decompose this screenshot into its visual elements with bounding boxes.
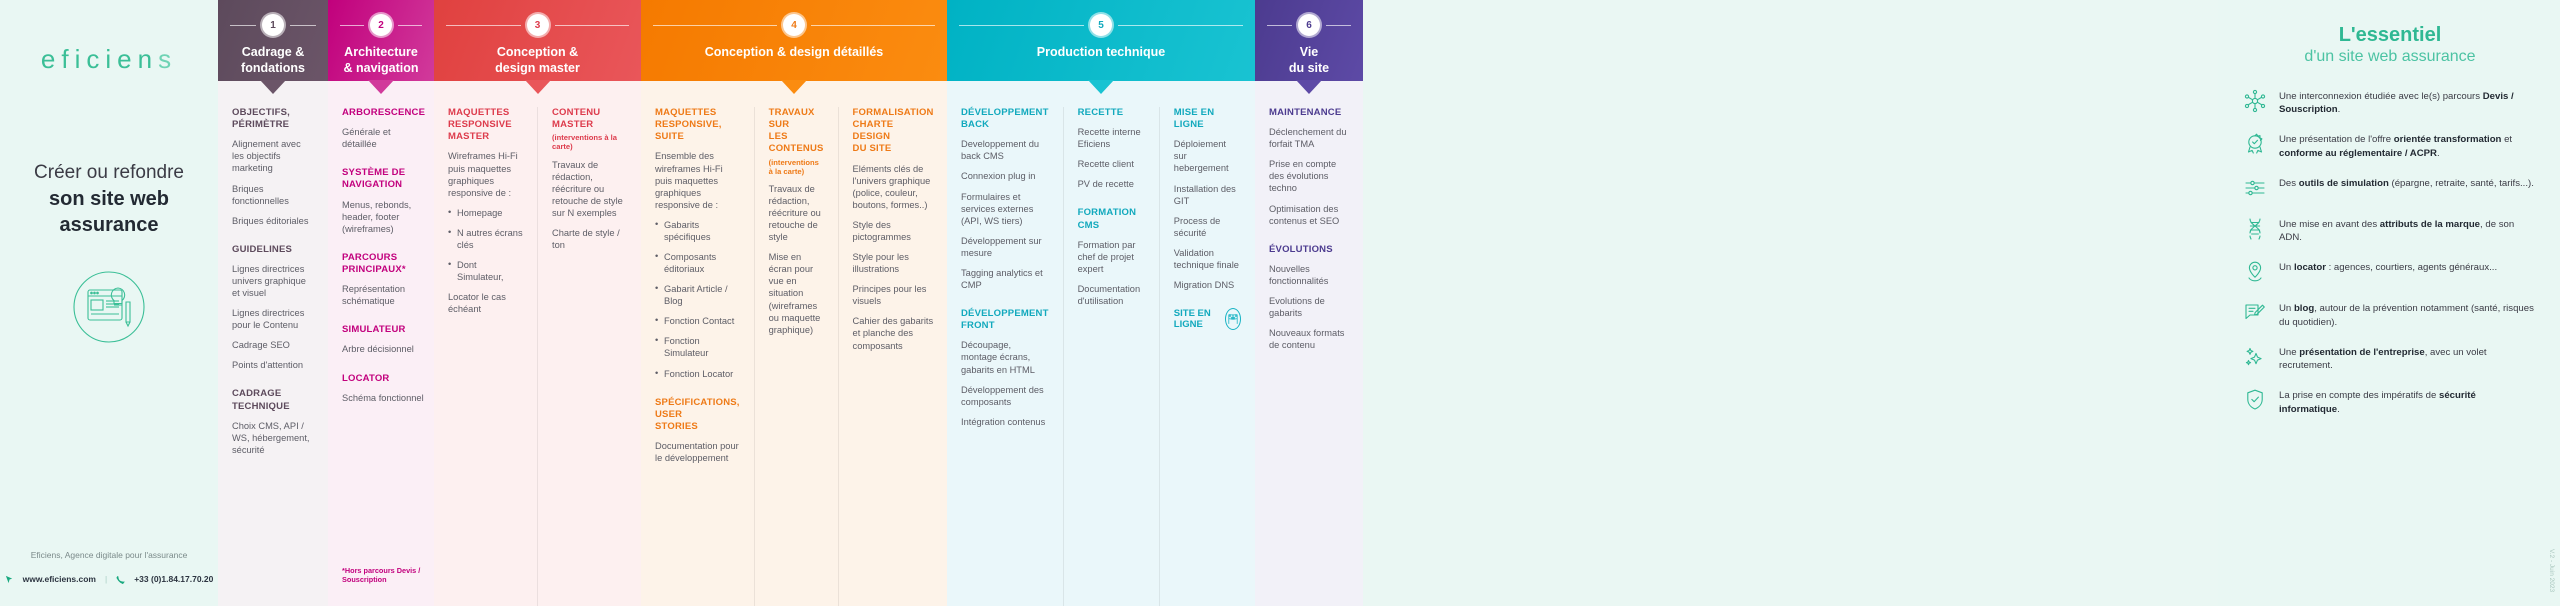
brand-panel: eficiens Créer ou refondre son site web … [0, 0, 218, 606]
content-group: TRAVAUX SURLES CONTENUS(interventions à … [769, 107, 824, 336]
content-group: RECETTERecette interne EficiensRecette c… [1078, 107, 1145, 190]
content-group: SIMULATEURArbre décisionnel [342, 324, 425, 355]
header-arrow-notch [781, 80, 807, 94]
list-item: Composants éditoriaux [655, 251, 740, 275]
phase-number-row: 2 [328, 14, 434, 36]
infographic-root: eficiens Créer ou refondre son site web … [0, 0, 2560, 606]
list-item: Choix CMS, API / WS, hébergement, sécuri… [232, 420, 314, 456]
divider-right [811, 25, 935, 26]
header-arrow-notch [368, 80, 394, 94]
list-item: Developpement du back CMS [961, 138, 1049, 162]
list-item: Briques éditoriales [232, 215, 314, 227]
blog-write-icon [2242, 300, 2268, 326]
phase-header-5: 5Production technique [947, 0, 1255, 81]
list-item: Wireframes Hi-Fi puis maquettes graphiqu… [448, 150, 523, 198]
list-item: Déploiement sur hebergement [1174, 138, 1241, 174]
list-item: Homepage [448, 207, 523, 219]
phase-number-badge: 3 [527, 14, 549, 36]
phase-3-column-2: CONTENU MASTER(interventions à la carte)… [537, 107, 641, 606]
list-item: Développement sur mesure [961, 235, 1049, 259]
content-group: DÉVELOPPEMENTBACKDeveloppement du back C… [961, 107, 1049, 291]
brand-contact: www.eficiens.com | +33 (0)1.84.17.70.20 [0, 574, 218, 584]
phase-body-6: MAINTENANCEDéclenchement du forfait TMAP… [1255, 81, 1363, 606]
divider-right [1326, 25, 1351, 26]
phase-header-1: 1Cadrage &fondations [218, 0, 328, 81]
map-pin-icon [2242, 259, 2268, 285]
list-item: Eléments clés de l'univers graphique (po… [853, 163, 934, 211]
phase-number-row: 3 [434, 14, 641, 36]
list-item: Points d'attention [232, 359, 314, 371]
list-item: Ensemble des wireframes Hi-Fi puis maque… [655, 150, 740, 210]
list-item: Cadrage SEO [232, 339, 314, 351]
content-group: PARCOURSPRINCIPAUX*Représentation schéma… [342, 252, 425, 307]
content-group: MISE EN LIGNEDéploiement sur hebergement… [1174, 107, 1241, 291]
list-item: Travaux de rédaction, réécriture ou reto… [552, 159, 627, 219]
group-title: SIMULATEUR [342, 324, 425, 336]
list-item: Nouveaux formats de contenu [1269, 327, 1349, 351]
page-title: Créer ou refondre son site web assurance [34, 161, 184, 238]
phase-title: Architecture& navigation [337, 45, 424, 76]
phase-3-column-1: MAQUETTESRESPONSIVE MASTERWireframes Hi-… [434, 107, 537, 606]
content-group: SPÉCIFICATIONS, USERSTORIESDocumentation… [655, 397, 740, 465]
divider-right [398, 25, 422, 26]
list-item: Découpage, montage écrans, gabarits en H… [961, 339, 1049, 375]
content-group: CONTENU MASTER(interventions à la carte)… [552, 107, 627, 251]
list-item: Lignes directrices pour le Contenu [232, 307, 314, 331]
phase-number-badge: 6 [1298, 14, 1320, 36]
group-title: SYSTÈME DENAVIGATION [342, 167, 425, 191]
list-item: Installation des GIT [1174, 183, 1241, 207]
phase-number-row: 1 [218, 14, 328, 36]
phase-title: Conception &design master [489, 45, 586, 76]
group-title: DÉVELOPPEMENTFRONT [961, 308, 1049, 332]
list-item: Briques fonctionnelles [232, 183, 314, 207]
list-item: N autres écrans clés [448, 227, 523, 251]
phase-body-5: DÉVELOPPEMENTBACKDeveloppement du back C… [947, 81, 1255, 606]
website-design-icon [66, 264, 152, 355]
divider-right [290, 25, 316, 26]
essential-item: La prise en compte des impératifs de séc… [2242, 387, 2538, 415]
list-item: Process de sécurité [1174, 215, 1241, 239]
group-subtitle: (interventions à la carte) [769, 158, 824, 176]
essential-item-text: Une présentation de l'entreprise, avec u… [2279, 344, 2538, 372]
eficiens-logo: eficiens [41, 44, 177, 75]
content-group: OBJECTIFS,PÉRIMÈTREAlignement avec les o… [232, 107, 314, 227]
phase-header-2: 2Architecture& navigation [328, 0, 434, 81]
site-online-badge: SITE EN LIGNE [1174, 308, 1241, 330]
phase-footnote: *Hors parcours Devis / Souscription [342, 566, 434, 584]
list-item: Intégration contenus [961, 416, 1049, 428]
phase-4-column-3: FORMALISATIONCHARTE DESIGNDU SITEElément… [838, 107, 948, 606]
essential-item-text: La prise en compte des impératifs de séc… [2279, 387, 2538, 415]
essential-item-text: Un blog, autour de la prévention notamme… [2279, 300, 2538, 328]
divider-left [340, 25, 364, 26]
list-item: Recette client [1078, 158, 1145, 170]
list-item: Principes pour les visuels [853, 283, 934, 307]
list-item: Documentation pour le développement [655, 440, 740, 464]
group-title: ARBORESCENCE [342, 107, 425, 119]
group-title: LOCATOR [342, 373, 425, 385]
phase-5-column-3: MISE EN LIGNEDéploiement sur hebergement… [1159, 107, 1255, 606]
phase-number-row: 4 [641, 14, 947, 36]
header-arrow-notch [1296, 80, 1322, 94]
content-group: LOCATORSchéma fonctionnel [342, 373, 425, 404]
divider-left [653, 25, 777, 26]
essential-heading: L'essentiel [2242, 24, 2538, 47]
list-item: Cahier des gabarits et planche des compo… [853, 315, 934, 351]
list-item: Représentation schématique [342, 283, 425, 307]
group-title: GUIDELINES [232, 244, 314, 256]
list-item: Documentation d'utilisation [1078, 283, 1145, 307]
group-title: CONTENU MASTER [552, 107, 627, 131]
content-group: ÉVOLUTIONSNouvelles fonctionnalitésEvolu… [1269, 244, 1349, 352]
phase-5-column-1: DÉVELOPPEMENTBACKDeveloppement du back C… [947, 107, 1063, 606]
phase-number-row: 6 [1255, 14, 1363, 36]
sparkles-icon [2242, 344, 2268, 370]
list-item: Style des pictogrammes [853, 219, 934, 243]
list-item: Mise en écran pour vue en situation (wir… [769, 251, 824, 336]
phase-6: 6Viedu siteMAINTENANCEDéclenchement du f… [1255, 0, 1363, 606]
header-arrow-notch [260, 80, 286, 94]
divider-left [446, 25, 521, 26]
phase-1: 1Cadrage &fondationsOBJECTIFS,PÉRIMÈTREA… [218, 0, 328, 606]
phase-title: Cadrage &fondations [235, 45, 311, 76]
sliders-icon [2242, 175, 2268, 201]
phase-header-3: 3Conception &design master [434, 0, 641, 81]
phase-4: 4Conception & design détaillésMAQUETTESR… [641, 0, 947, 606]
list-item: Connexion plug in [961, 170, 1049, 182]
phase-title: Production technique [1031, 45, 1171, 61]
badge-label: SITE EN LIGNE [1174, 308, 1217, 330]
list-item: Générale et détaillée [342, 126, 425, 150]
group-title: FORMATION CMS [1078, 207, 1145, 231]
phase-number-badge: 4 [783, 14, 805, 36]
group-title: MAQUETTESRESPONSIVE, SUITE [655, 107, 740, 143]
title-line-1: Créer ou refondre [34, 162, 184, 183]
phase-header-4: 4Conception & design détaillés [641, 0, 947, 81]
phase-number-badge: 5 [1090, 14, 1112, 36]
list-item: Optimisation des contenus et SEO [1269, 203, 1349, 227]
brand-footer-note: Eficiens, Agence digitale pour l'assuran… [0, 550, 218, 560]
list-item: Validation technique finale [1174, 247, 1241, 271]
group-title: MAQUETTESRESPONSIVE MASTER [448, 107, 523, 143]
content-group: MAQUETTESRESPONSIVE MASTERWireframes Hi-… [448, 107, 523, 315]
phase-title: Conception & design détaillés [699, 45, 890, 61]
group-subtitle: (interventions à la carte) [552, 133, 627, 151]
list-item: Développement des composants [961, 384, 1049, 408]
phase-2: 2Architecture& navigationARBORESCENCEGén… [328, 0, 434, 606]
shield-check-icon [2242, 387, 2268, 413]
content-group: MAQUETTESRESPONSIVE, SUITEEnsemble des w… [655, 107, 740, 380]
phase-body-2: ARBORESCENCEGénérale et détailléeSYSTÈME… [328, 81, 434, 606]
list-item: Tagging analytics et CMP [961, 267, 1049, 291]
essential-item: Des outils de simulation (épargne, retra… [2242, 175, 2538, 201]
phase-6-column-1: MAINTENANCEDéclenchement du forfait TMAP… [1255, 107, 1363, 606]
phase-number-row: 5 [947, 14, 1255, 36]
website-label[interactable]: www.eficiens.com [23, 574, 96, 584]
cursor-icon [5, 574, 14, 584]
contact-separator: | [105, 574, 107, 584]
divider-right [1118, 25, 1243, 26]
list-item: Lignes directrices univers graphique et … [232, 263, 314, 299]
content-group: SYSTÈME DENAVIGATIONMenus, rebonds, head… [342, 167, 425, 235]
group-title: MISE EN LIGNE [1174, 107, 1241, 131]
essential-item-text: Une présentation de l'offre orientée tra… [2279, 131, 2538, 159]
certified-badge-icon [2242, 131, 2268, 157]
phase-2-column-1: ARBORESCENCEGénérale et détailléeSYSTÈME… [328, 107, 439, 606]
content-group: CADRAGETECHNIQUEChoix CMS, API / WS, héb… [232, 388, 314, 456]
group-title: ÉVOLUTIONS [1269, 244, 1349, 256]
divider-left [959, 25, 1084, 26]
list-item: Formation par chef de projet expert [1078, 239, 1145, 275]
list-item: Formulaires et services externes (API, W… [961, 191, 1049, 227]
essential-item-text: Des outils de simulation (épargne, retra… [2279, 175, 2534, 190]
content-group: MAINTENANCEDéclenchement du forfait TMAP… [1269, 107, 1349, 227]
content-group: FORMALISATIONCHARTE DESIGNDU SITEElément… [853, 107, 934, 352]
content-group: DÉVELOPPEMENTFRONTDécoupage, montage écr… [961, 308, 1049, 428]
list-item: Fonction Contact [655, 315, 740, 327]
phases-container: 1Cadrage &fondationsOBJECTIFS,PÉRIMÈTREA… [218, 0, 2218, 606]
title-line-2: son site web [34, 186, 184, 212]
phase-1-column-1: OBJECTIFS,PÉRIMÈTREAlignement avec les o… [218, 107, 328, 606]
content-group: FORMATION CMSFormation par chef de proje… [1078, 207, 1145, 307]
phase-body-4: MAQUETTESRESPONSIVE, SUITEEnsemble des w… [641, 81, 947, 606]
phone-label[interactable]: +33 (0)1.84.17.70.20 [134, 574, 213, 584]
list-item: Gabarits spécifiques [655, 219, 740, 243]
list-item: Schéma fonctionnel [342, 392, 425, 404]
phase-4-column-1: MAQUETTESRESPONSIVE, SUITEEnsemble des w… [641, 107, 754, 606]
list-item: Evolutions de gabarits [1269, 295, 1349, 319]
logo-main: eficien [41, 44, 158, 74]
list-item: Arbre décisionnel [342, 343, 425, 355]
essential-subheading: d'un site web assurance [2242, 48, 2538, 66]
title-line-3: assurance [34, 212, 184, 238]
group-title: DÉVELOPPEMENTBACK [961, 107, 1049, 131]
logo-tail: s [158, 44, 177, 74]
phase-5-column-2: RECETTERecette interne EficiensRecette c… [1063, 107, 1159, 606]
group-title: MAINTENANCE [1269, 107, 1349, 119]
content-group: ARBORESCENCEGénérale et détaillée [342, 107, 425, 150]
group-title: TRAVAUX SURLES CONTENUS [769, 107, 824, 156]
group-title: OBJECTIFS,PÉRIMÈTRE [232, 107, 314, 131]
phase-body-3: MAQUETTESRESPONSIVE MASTERWireframes Hi-… [434, 81, 641, 606]
list-item: Nouvelles fonctionnalités [1269, 263, 1349, 287]
divider-left [230, 25, 256, 26]
divider-right [555, 25, 630, 26]
list-item: Menus, rebonds, header, footer (wirefram… [342, 199, 425, 235]
group-title: FORMALISATIONCHARTE DESIGNDU SITE [853, 107, 934, 156]
list-item: Style pour les illustrations [853, 251, 934, 275]
phase-header-6: 6Viedu site [1255, 0, 1363, 81]
checkered-flags-icon [1225, 308, 1241, 330]
list-item: Déclenchement du forfait TMA [1269, 126, 1349, 150]
header-arrow-notch [525, 80, 551, 94]
list-item: Dont Simulateur, [448, 259, 523, 283]
list-item: Migration DNS [1174, 279, 1241, 291]
phase-5: 5Production techniqueDÉVELOPPEMENTBACKDe… [947, 0, 1255, 606]
phase-title: Viedu site [1283, 45, 1335, 76]
group-title: CADRAGETECHNIQUE [232, 388, 314, 412]
phase-number-badge: 2 [370, 14, 392, 36]
list-item: Locator le cas échéant [448, 291, 523, 315]
essential-item-text: Une mise en avant des attributs de la ma… [2279, 216, 2538, 244]
group-title: SPÉCIFICATIONS, USERSTORIES [655, 397, 740, 433]
essential-item-text: Une interconnexion étudiée avec le(s) pa… [2279, 88, 2538, 116]
list-item: Fonction Locator [655, 368, 740, 380]
content-group: GUIDELINESLignes directrices univers gra… [232, 244, 314, 372]
essential-item-text: Un locator : agences, courtiers, agents … [2279, 259, 2497, 274]
list-item: Recette interne Eficiens [1078, 126, 1145, 150]
essential-item: Un blog, autour de la prévention notamme… [2242, 300, 2538, 328]
dna-icon [2242, 216, 2268, 242]
essential-item: Une interconnexion étudiée avec le(s) pa… [2242, 88, 2538, 116]
group-title: PARCOURSPRINCIPAUX* [342, 252, 425, 276]
list-item: Prise en compte des évolutions techno [1269, 158, 1349, 194]
list-item: Gabarit Article / Blog [655, 283, 740, 307]
list-item: Travaux de rédaction, réécriture ou reto… [769, 183, 824, 243]
phase-4-column-2: TRAVAUX SURLES CONTENUS(interventions à … [754, 107, 838, 606]
group-title: RECETTE [1078, 107, 1145, 119]
essential-item: Un locator : agences, courtiers, agents … [2242, 259, 2538, 285]
list-item: Charte de style / ton [552, 227, 627, 251]
network-nodes-icon [2242, 88, 2268, 114]
essential-item: Une présentation de l'entreprise, avec u… [2242, 344, 2538, 372]
essential-panel: L'essentiel d'un site web assurance Une … [2218, 0, 2560, 606]
phone-icon [116, 574, 125, 584]
phase-3: 3Conception &design masterMAQUETTESRESPO… [434, 0, 641, 606]
phase-number-badge: 1 [262, 14, 284, 36]
essential-item: Une présentation de l'offre orientée tra… [2242, 131, 2538, 159]
header-arrow-notch [1088, 80, 1114, 94]
list-item: Fonction Simulateur [655, 335, 740, 359]
list-item: PV de recette [1078, 178, 1145, 190]
essential-item: Une mise en avant des attributs de la ma… [2242, 216, 2538, 244]
list-item: Alignement avec les objectifs marketing [232, 138, 314, 174]
version-label: V.2 - Juin 2023 [2548, 549, 2555, 592]
essential-list: Une interconnexion étudiée avec le(s) pa… [2242, 88, 2538, 416]
phase-body-1: OBJECTIFS,PÉRIMÈTREAlignement avec les o… [218, 81, 328, 606]
divider-left [1267, 25, 1292, 26]
